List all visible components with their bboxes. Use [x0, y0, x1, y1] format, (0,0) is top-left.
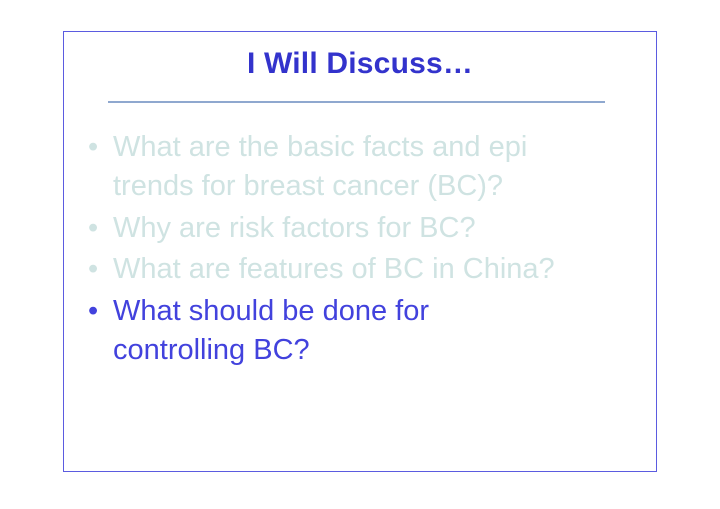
bullet-point-icon: •: [88, 209, 113, 248]
bullet-point-icon: •: [88, 250, 113, 289]
list-item[interactable]: • What are the basic facts and epi trend…: [88, 128, 648, 207]
bullet-point-icon: •: [88, 128, 113, 167]
list-item[interactable]: • Why are risk factors for BC?: [88, 209, 648, 248]
slide-frame: I Will Discuss… • What are the basic fac…: [63, 31, 657, 472]
list-item-label: What should be done for controlling BC?: [113, 292, 648, 371]
list-item[interactable]: • What should be done for controlling BC…: [88, 292, 648, 371]
page-title: I Will Discuss…: [64, 47, 656, 80]
bullet-point-icon: •: [88, 292, 113, 331]
title-divider: [108, 101, 605, 103]
bullet-list: • What are the basic facts and epi trend…: [88, 128, 648, 373]
list-item[interactable]: • What are features of BC in China?: [88, 250, 648, 289]
list-item-label: Why are risk factors for BC?: [113, 209, 648, 248]
list-item-label: What are features of BC in China?: [113, 250, 648, 289]
list-item-label: What are the basic facts and epi trends …: [113, 128, 648, 207]
slide-canvas: I Will Discuss… • What are the basic fac…: [0, 0, 720, 509]
